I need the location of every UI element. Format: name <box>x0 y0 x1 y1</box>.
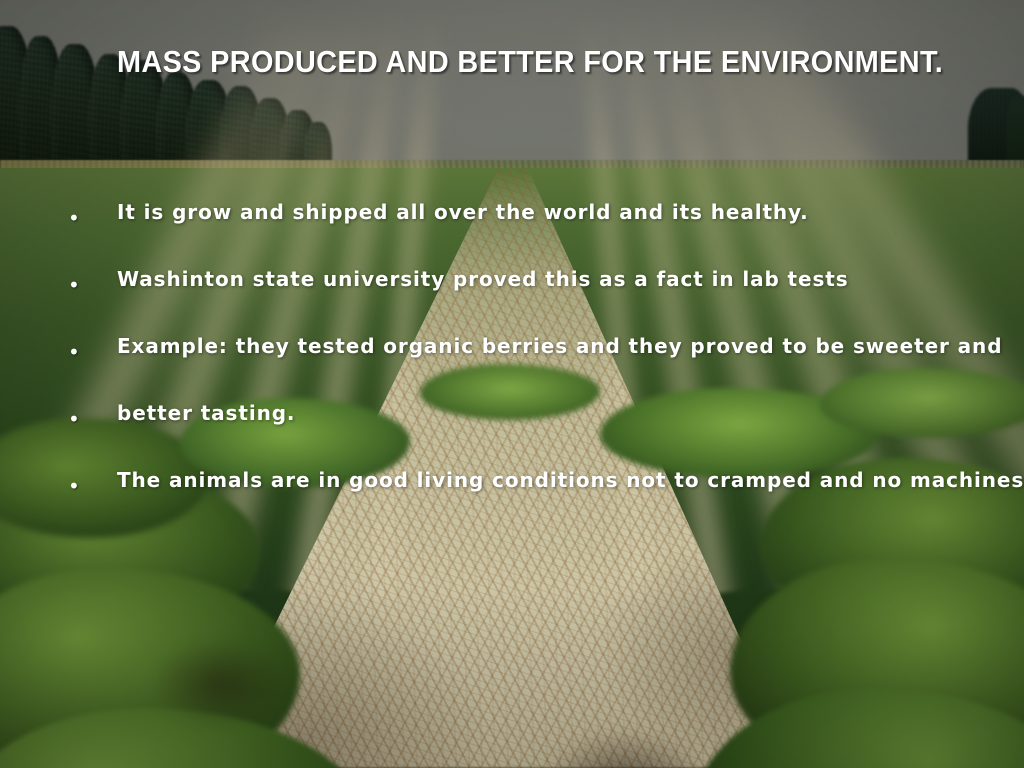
list-item: • Washinton state university proved this… <box>0 267 1024 334</box>
bullet-text: better tasting. <box>117 401 295 425</box>
bullet-text: The animals are in good living condition… <box>117 468 1024 492</box>
bullet-text: Example: they tested organic berries and… <box>117 334 1002 358</box>
bullet-marker-icon: • <box>68 476 76 496</box>
bullet-marker-icon: • <box>68 409 76 429</box>
list-item: • It is grow and shipped all over the wo… <box>0 200 1024 267</box>
bullet-marker-icon: • <box>68 208 76 228</box>
presentation-slide: MASS PRODUCED AND BETTER FOR THE ENVIRON… <box>0 0 1024 768</box>
list-item: • The animals are in good living conditi… <box>0 468 1024 535</box>
bullet-text: It is grow and shipped all over the worl… <box>117 200 809 224</box>
slide-content: MASS PRODUCED AND BETTER FOR THE ENVIRON… <box>0 0 1024 768</box>
bullet-marker-icon: • <box>68 342 76 362</box>
bullet-list: • It is grow and shipped all over the wo… <box>0 200 1024 535</box>
bullet-marker-icon: • <box>68 275 76 295</box>
list-item: • Example: they tested organic berries a… <box>0 334 1024 401</box>
page-title: MASS PRODUCED AND BETTER FOR THE ENVIRON… <box>117 44 943 80</box>
list-item: • better tasting. <box>0 401 1024 468</box>
bullet-text: Washinton state university proved this a… <box>117 267 849 291</box>
